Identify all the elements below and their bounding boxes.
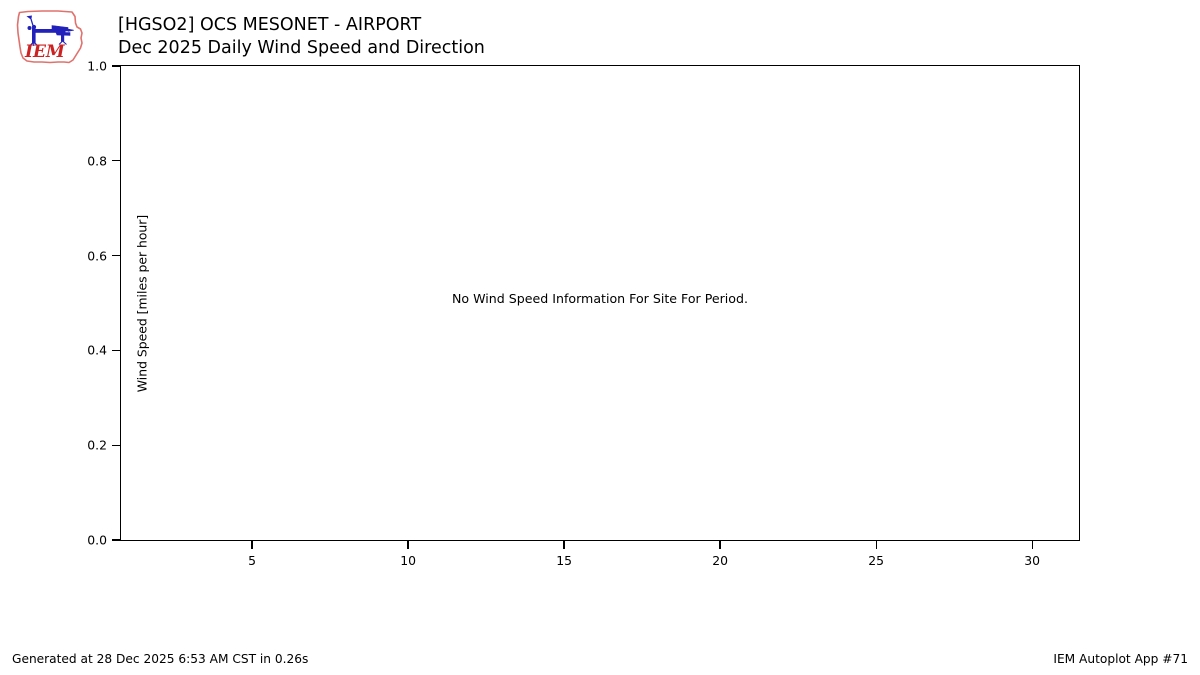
iem-logo: IEM xyxy=(12,5,88,68)
y-tick-label: 1.0 xyxy=(87,59,107,74)
y-tick-0.6: 0.6 xyxy=(112,255,121,256)
y-tick-0.2: 0.2 xyxy=(112,445,121,446)
x-tick-20: 20 xyxy=(719,540,720,549)
x-tick-5: 5 xyxy=(251,540,252,549)
iem-logo-text: IEM xyxy=(24,42,66,62)
y-axis-label: Wind Speed [miles per hour] xyxy=(135,0,150,654)
x-tick-15: 15 xyxy=(563,540,564,549)
y-tick-label: 0.4 xyxy=(87,343,107,358)
y-tick-label: 0.0 xyxy=(87,532,107,547)
x-tick-label: 20 xyxy=(712,553,728,568)
y-tick-0.0: 0.0 xyxy=(112,539,121,540)
y-tick-0.8: 0.8 xyxy=(112,160,121,161)
page-title: [HGSO2] OCS MESONET - AIRPORT Dec 2025 D… xyxy=(118,14,485,60)
y-tick-label: 0.2 xyxy=(87,438,107,453)
footer-app-id: IEM Autoplot App #71 xyxy=(1053,652,1188,666)
x-tick-label: 5 xyxy=(248,553,256,568)
title-line-subject: Dec 2025 Daily Wind Speed and Direction xyxy=(118,37,485,60)
y-tick-1.0: 1.0 xyxy=(112,65,121,66)
iem-logo-svg: IEM xyxy=(12,5,88,68)
title-line-station: [HGSO2] OCS MESONET - AIRPORT xyxy=(118,14,485,37)
x-tick-label: 25 xyxy=(868,553,884,568)
x-tick-25: 25 xyxy=(876,540,877,549)
x-tick-label: 30 xyxy=(1024,553,1040,568)
x-tick-label: 10 xyxy=(400,553,416,568)
y-tick-0.4: 0.4 xyxy=(112,350,121,351)
y-tick-label: 0.6 xyxy=(87,248,107,263)
y-tick-label: 0.8 xyxy=(87,153,107,168)
x-tick-label: 15 xyxy=(556,553,572,568)
no-data-message: No Wind Speed Information For Site For P… xyxy=(121,291,1079,306)
x-tick-10: 10 xyxy=(407,540,408,549)
x-tick-30: 30 xyxy=(1032,540,1033,549)
chart-plot-area: Wind Speed [miles per hour] 0.00.20.40.6… xyxy=(120,65,1080,541)
footer-generated-text: Generated at 28 Dec 2025 6:53 AM CST in … xyxy=(12,652,308,666)
